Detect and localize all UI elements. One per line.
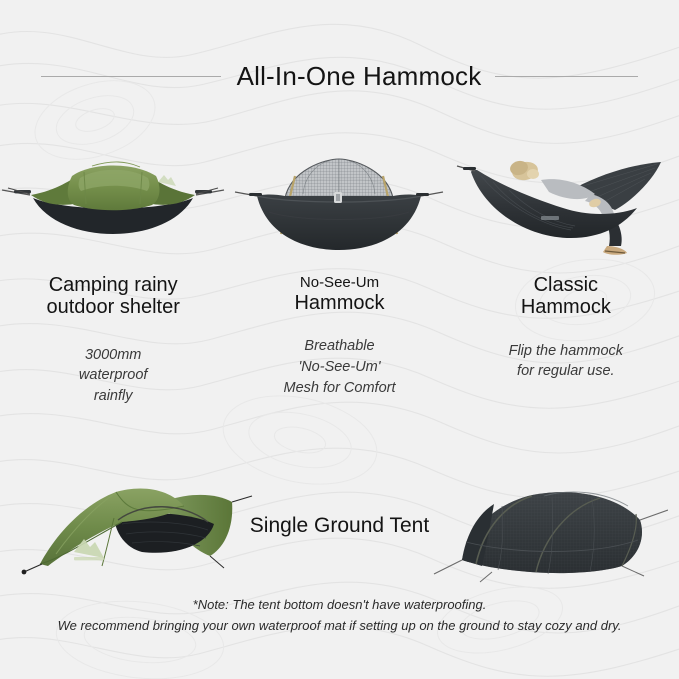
column-1-heading-line2: outdoor shelter — [46, 296, 179, 318]
page-title: All-In-One Hammock — [237, 61, 482, 92]
column-2-sub-line1: Breathable — [304, 338, 374, 354]
footnote-line1: *Note: The tent bottom doesn't have wate… — [193, 597, 487, 612]
column-1-subtext: 3000mm waterproof rainfly — [79, 345, 148, 407]
column-2-sub-line2: 'No-See-Um' — [298, 359, 380, 375]
column-1-sub-line3: rainfly — [94, 388, 133, 404]
dark-mesh-ground-tent-image — [432, 476, 668, 584]
classic-hammock-with-person-image — [453, 150, 679, 260]
column-2-heading-small: No-See-Um — [294, 274, 384, 292]
column-2-sub-line3: Mesh for Comfort — [283, 380, 395, 396]
column-2-heading-line1: Hammock — [294, 292, 384, 314]
feature-columns: Camping rainy outdoor shelter 3000mm wat… — [0, 150, 679, 430]
feature-column-classic-hammock: Classic Hammock Flip the hammock for reg… — [453, 150, 679, 430]
green-rainfly-hammock-image — [0, 150, 226, 260]
column-3-sub-line1: Flip the hammock — [509, 343, 623, 359]
feature-column-camping-rainy-outdoor-shelter: Camping rainy outdoor shelter 3000mm wat… — [0, 150, 226, 430]
column-3-heading: Classic Hammock — [521, 274, 611, 319]
footnote: *Note: The tent bottom doesn't have wate… — [0, 594, 679, 637]
column-1-heading: Camping rainy outdoor shelter — [46, 274, 179, 319]
column-3-heading-line1: Classic — [534, 274, 598, 296]
column-1-sub-line1: 3000mm — [85, 347, 141, 363]
column-3-heading-line2: Hammock — [521, 296, 611, 318]
column-2-heading: No-See-Um Hammock — [294, 274, 384, 314]
title-rule-right — [495, 76, 638, 77]
column-3-subtext: Flip the hammock for regular use. — [509, 341, 623, 382]
ground-tent-section: Single Ground Tent — [0, 470, 679, 590]
feature-column-no-see-um-hammock: No-See-Um Hammock Breathable 'No-See-Um'… — [226, 150, 452, 430]
footnote-line2: We recommend bringing your own waterproo… — [0, 615, 679, 636]
column-3-sub-line2: for regular use. — [517, 363, 615, 379]
mesh-canopy-hammock-image — [226, 150, 452, 260]
title-rule-left — [41, 76, 221, 77]
column-2-subtext: Breathable 'No-See-Um' Mesh for Comfort — [283, 336, 395, 398]
column-1-sub-line2: waterproof — [79, 367, 148, 383]
column-1-heading-line1: Camping rainy — [49, 274, 178, 296]
page-title-row: All-In-One Hammock — [0, 56, 679, 96]
